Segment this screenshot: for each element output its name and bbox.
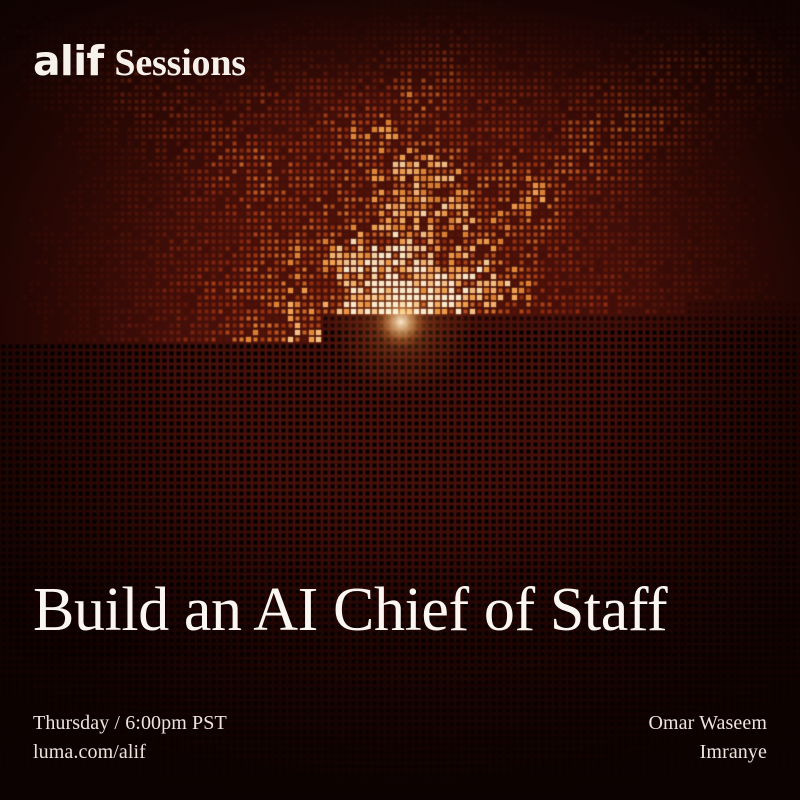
footer-registration-link[interactable]: luma.com/alif <box>33 738 227 766</box>
footer-datetime: Thursday / 6:00pm PST <box>33 709 227 737</box>
brand-logo[interactable]: alif Sessions <box>33 41 246 82</box>
page-title: Build an AI Chief of Staff <box>33 578 767 644</box>
footer-event-details: Thursday / 6:00pm PST luma.com/alif <box>33 709 227 766</box>
content-layer: alif Sessions Build an AI Chief of Staff… <box>0 0 800 800</box>
footer-speaker-primary: Omar Waseem <box>648 709 767 737</box>
event-poster: alif Sessions Build an AI Chief of Staff… <box>0 0 800 800</box>
logo-mark-alif: alif <box>33 41 103 82</box>
logo-word-sessions: Sessions <box>114 44 245 82</box>
footer-speaker-secondary: Imranye <box>648 738 767 766</box>
footer: Thursday / 6:00pm PST luma.com/alif Omar… <box>33 709 767 766</box>
footer-speakers: Omar Waseem Imranye <box>648 709 767 766</box>
